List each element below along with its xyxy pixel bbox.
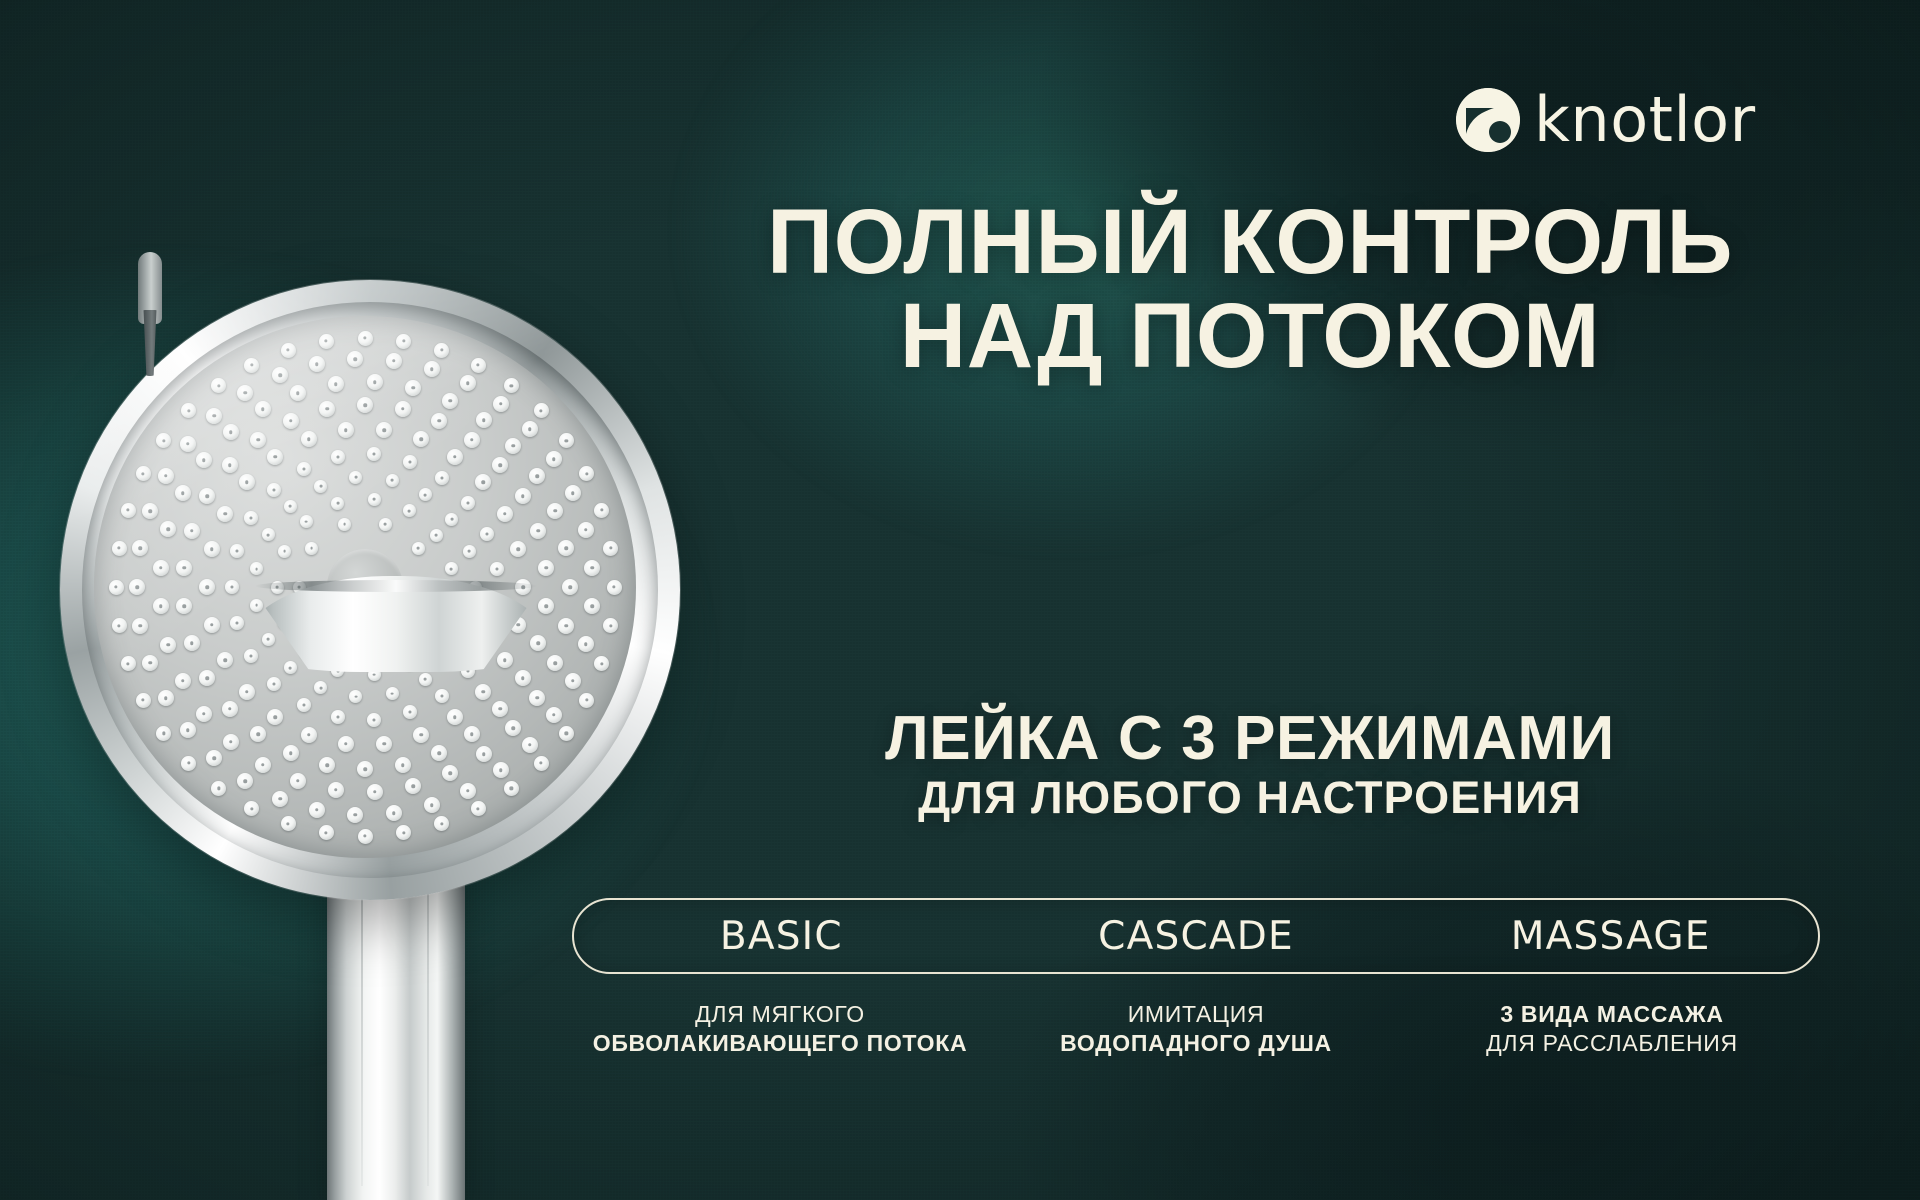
spray-nozzle xyxy=(476,746,492,762)
spray-nozzle xyxy=(250,726,266,742)
spray-nozzle xyxy=(395,401,411,417)
spray-nozzle xyxy=(222,457,238,473)
subtitle-line-2: ДЛЯ ЛЮБОГО НАСТРОЕНИЯ xyxy=(620,771,1880,824)
spray-nozzle xyxy=(132,618,148,634)
spray-nozzle xyxy=(297,462,311,476)
spray-nozzle xyxy=(386,687,399,700)
spray-nozzle xyxy=(558,618,574,634)
tab-basic[interactable]: BASIC xyxy=(574,914,989,959)
spray-nozzle xyxy=(522,737,538,753)
spray-nozzle xyxy=(594,656,609,671)
spray-nozzle xyxy=(522,421,538,437)
caption-basic-top: ДЛЯ МЯГКОГО xyxy=(582,1000,978,1029)
spray-nozzle xyxy=(530,523,546,539)
spray-nozzle xyxy=(493,396,509,412)
spray-nozzle xyxy=(530,635,546,651)
spray-nozzle xyxy=(349,471,362,484)
spray-nozzle xyxy=(314,480,327,493)
caption-basic: ДЛЯ МЯГКОГО ОБВОЛАКИВАЮЩЕГО ПОТОКА xyxy=(572,1000,988,1058)
spray-nozzle xyxy=(176,598,192,614)
spray-nozzle xyxy=(314,681,327,694)
spray-nozzle xyxy=(121,656,136,671)
spray-nozzle xyxy=(594,503,609,518)
spray-nozzle xyxy=(445,513,458,526)
spray-nozzle xyxy=(156,433,171,448)
spray-nozzle xyxy=(460,783,476,799)
spray-nozzle xyxy=(112,541,127,556)
spray-nozzle xyxy=(475,474,491,490)
caption-massage: 3 ВИДА МАССАЖА ДЛЯ РАССЛАБЛЕНИЯ xyxy=(1404,1000,1820,1058)
spray-nozzle xyxy=(607,580,622,595)
brand-name: knotlor xyxy=(1534,89,1756,151)
spray-nozzle xyxy=(347,807,363,823)
spray-nozzle xyxy=(272,791,288,807)
spray-nozzle xyxy=(584,598,600,614)
spray-nozzle xyxy=(460,375,476,391)
spray-nozzle xyxy=(153,598,169,614)
spray-nozzle xyxy=(160,521,176,537)
spray-nozzle xyxy=(579,466,594,481)
spray-nozzle xyxy=(386,353,402,369)
spray-nozzle xyxy=(328,376,344,392)
spray-nozzle xyxy=(338,518,351,531)
spray-nozzle xyxy=(319,825,334,840)
subtitle: ЛЕЙКА С 3 РЕЖИМАМИ ДЛЯ ЛЮБОГО НАСТРОЕНИЯ xyxy=(620,706,1880,824)
spray-nozzle xyxy=(497,652,513,668)
tab-massage[interactable]: MASSAGE xyxy=(1403,914,1818,959)
spray-nozzle xyxy=(464,726,480,742)
spray-nozzle xyxy=(480,527,494,541)
spray-nozzle xyxy=(184,523,200,539)
spray-nozzle xyxy=(331,710,345,724)
spray-nozzle xyxy=(237,773,253,789)
spray-nozzle xyxy=(538,560,554,576)
spray-nozzle xyxy=(405,380,421,396)
spray-nozzle xyxy=(136,693,151,708)
spray-nozzle xyxy=(250,432,266,448)
caption-cascade-bottom: ВОДОПАДНОГО ДУША xyxy=(998,1029,1394,1058)
spray-nozzle xyxy=(109,580,124,595)
spray-nozzle xyxy=(603,541,618,556)
spray-nozzle xyxy=(357,761,373,777)
spray-nozzle xyxy=(357,397,373,413)
spray-nozzle xyxy=(319,401,335,417)
spray-nozzle xyxy=(376,736,392,752)
knotlor-circle-swoosh-icon xyxy=(1456,88,1520,152)
spray-nozzle xyxy=(492,701,508,717)
spray-nozzle xyxy=(505,438,521,454)
spray-nozzle xyxy=(493,762,509,778)
spray-nozzle xyxy=(538,598,554,614)
spray-nozzle xyxy=(204,617,220,633)
spray-nozzle xyxy=(204,541,220,557)
spray-nozzle xyxy=(283,745,299,761)
spray-nozzle xyxy=(284,500,297,513)
spray-nozzle xyxy=(424,797,440,813)
spray-nozzle xyxy=(160,637,176,653)
spray-nozzle xyxy=(284,661,297,674)
spray-nozzle xyxy=(199,670,215,686)
spray-nozzle xyxy=(546,707,562,723)
spray-nozzle xyxy=(217,506,233,522)
spray-nozzle xyxy=(403,504,416,517)
spray-nozzle xyxy=(395,757,411,773)
spray-nozzle xyxy=(142,655,158,671)
spray-nozzle xyxy=(301,431,317,447)
spray-nozzle xyxy=(223,424,239,440)
spray-nozzle xyxy=(281,343,296,358)
handle-collar-highlight xyxy=(255,580,537,592)
spray-nozzle xyxy=(225,580,239,594)
spray-nozzle xyxy=(376,422,392,438)
spray-nozzle xyxy=(434,343,449,358)
spray-nozzle xyxy=(546,451,562,467)
spray-nozzle xyxy=(262,633,275,646)
spray-nozzle xyxy=(565,485,581,501)
spray-nozzle xyxy=(367,784,383,800)
spray-nozzle xyxy=(475,684,491,700)
spray-nozzle xyxy=(534,403,549,418)
spray-nozzle xyxy=(181,756,196,771)
spray-nozzle xyxy=(442,393,458,409)
spray-nozzle xyxy=(309,802,325,818)
spray-nozzle xyxy=(156,726,171,741)
tab-cascade[interactable]: CASCADE xyxy=(989,914,1404,959)
spray-nozzle xyxy=(578,636,594,652)
spray-nozzle xyxy=(559,726,574,741)
spray-nozzle xyxy=(419,488,432,501)
spray-nozzle xyxy=(534,756,549,771)
spray-nozzle xyxy=(424,361,440,377)
spray-nozzle xyxy=(267,449,283,465)
spray-nozzle xyxy=(196,706,212,722)
spray-nozzle xyxy=(237,385,253,401)
spray-nozzle xyxy=(136,466,151,481)
spray-nozzle xyxy=(431,745,447,761)
spray-nozzle xyxy=(206,750,222,766)
spray-nozzle xyxy=(413,727,429,743)
spray-nozzle xyxy=(412,542,425,555)
spray-nozzle xyxy=(255,757,271,773)
spray-nozzle xyxy=(239,474,255,490)
spray-nozzle xyxy=(396,825,411,840)
spray-nozzle xyxy=(405,778,421,794)
spray-nozzle xyxy=(476,412,492,428)
spray-nozzle xyxy=(386,474,399,487)
spray-nozzle xyxy=(211,781,226,796)
spray-nozzle xyxy=(529,468,545,484)
spray-nozzle xyxy=(319,757,335,773)
spray-nozzle xyxy=(158,690,174,706)
spray-nozzle xyxy=(328,782,344,798)
spray-nozzle xyxy=(175,485,191,501)
spray-nozzle xyxy=(368,493,381,506)
caption-massage-bottom: ДЛЯ РАССЛАБЛЕНИЯ xyxy=(1414,1029,1810,1058)
spray-nozzle xyxy=(244,511,258,525)
spray-nozzle xyxy=(559,433,574,448)
spray-nozzle xyxy=(297,698,311,712)
spray-nozzle xyxy=(497,506,513,522)
spray-nozzle xyxy=(403,705,417,719)
spray-nozzle xyxy=(244,801,259,816)
spray-nozzle xyxy=(464,432,480,448)
spray-nozzle xyxy=(445,562,458,575)
brand-logo[interactable]: knotlor xyxy=(1456,88,1756,152)
spray-nozzle xyxy=(579,693,594,708)
spray-nozzle xyxy=(505,720,521,736)
spray-nozzle xyxy=(367,374,383,390)
spray-nozzle xyxy=(565,673,581,689)
spray-nozzle xyxy=(338,736,354,752)
spray-nozzle xyxy=(283,413,299,429)
spray-nozzle xyxy=(217,652,233,668)
spray-nozzle xyxy=(175,673,191,689)
spray-nozzle xyxy=(301,727,317,743)
spray-nozzle xyxy=(603,618,618,633)
spray-nozzle xyxy=(196,452,212,468)
spray-nozzle xyxy=(529,690,545,706)
spray-nozzle xyxy=(490,562,504,576)
spray-nozzle xyxy=(331,497,344,510)
spray-nozzle xyxy=(358,829,373,844)
spray-nozzle xyxy=(510,541,526,557)
spray-nozzle xyxy=(504,781,519,796)
caption-massage-top: 3 ВИДА МАССАЖА xyxy=(1414,1000,1810,1029)
spray-nozzle xyxy=(584,560,600,576)
spray-nozzle xyxy=(267,677,281,691)
spray-nozzle xyxy=(230,544,244,558)
spray-nozzle xyxy=(158,468,174,484)
spray-nozzle xyxy=(255,401,271,417)
spray-nozzle xyxy=(222,701,238,717)
spray-nozzle xyxy=(442,765,458,781)
spray-nozzle xyxy=(558,540,574,556)
spray-nozzle xyxy=(244,358,259,373)
spray-nozzle xyxy=(250,562,263,575)
spray-nozzle xyxy=(267,709,283,725)
spray-nozzle xyxy=(338,422,354,438)
spray-nozzle xyxy=(578,522,594,538)
promo-banner: knotlor ПОЛНЫЙ КОНТРОЛЬ НАД ПОТОКОМ ЛЕЙК… xyxy=(0,0,1920,1200)
spray-nozzle xyxy=(281,816,296,831)
spray-nozzle xyxy=(463,545,476,558)
spray-nozzle xyxy=(176,560,192,576)
spray-nozzle xyxy=(112,618,127,633)
spray-nozzle xyxy=(129,579,145,595)
spray-nozzle xyxy=(447,449,463,465)
spray-nozzle xyxy=(430,529,443,542)
caption-cascade-top: ИМИТАЦИЯ xyxy=(998,1000,1394,1029)
spray-nozzle xyxy=(290,385,306,401)
spray-nozzle xyxy=(347,351,363,367)
spray-nozzle xyxy=(403,455,417,469)
spray-nozzle xyxy=(396,334,411,349)
spray-nozzle xyxy=(153,560,169,576)
spray-nozzle xyxy=(272,367,288,383)
spray-nozzle xyxy=(250,599,263,612)
spray-nozzle xyxy=(471,801,486,816)
spray-nozzle xyxy=(349,690,362,703)
spray-nozzle xyxy=(319,334,334,349)
spray-nozzle xyxy=(358,331,373,346)
spray-nozzle xyxy=(244,649,258,663)
spray-nozzle xyxy=(431,413,447,429)
spray-nozzle xyxy=(547,655,563,671)
spray-nozzle xyxy=(367,447,381,461)
spray-nozzle xyxy=(447,709,463,725)
spray-nozzle xyxy=(367,713,381,727)
spray-nozzle xyxy=(199,488,215,504)
subtitle-line-1: ЛЕЙКА С 3 РЕЖИМАМИ xyxy=(620,706,1880,771)
spray-nozzle xyxy=(211,378,226,393)
spray-nozzle xyxy=(515,670,531,686)
headline-line-2: НАД ПОТОКОМ xyxy=(620,288,1880,386)
spray-nozzle xyxy=(386,805,402,821)
spray-nozzle xyxy=(121,503,136,518)
spray-nozzle xyxy=(547,503,563,519)
spray-nozzle xyxy=(132,540,148,556)
spray-nozzle xyxy=(461,496,475,510)
spray-nozzle xyxy=(230,616,244,630)
spray-nozzle xyxy=(492,457,508,473)
mode-selector-pill: BASIC CASCADE MASSAGE xyxy=(572,898,1820,974)
spray-nozzle xyxy=(290,773,306,789)
headline-line-1: ПОЛНЫЙ КОНТРОЛЬ xyxy=(620,196,1880,288)
spray-nozzle xyxy=(504,378,519,393)
spray-nozzle xyxy=(562,579,578,595)
spray-nozzle xyxy=(515,488,531,504)
spray-nozzle xyxy=(309,356,325,372)
spray-nozzle xyxy=(180,436,196,452)
spray-nozzle xyxy=(434,816,449,831)
spray-nozzle xyxy=(206,408,222,424)
caption-cascade: ИМИТАЦИЯ ВОДОПАДНОГО ДУША xyxy=(988,1000,1404,1058)
spray-nozzle xyxy=(262,528,275,541)
spray-nozzle xyxy=(239,684,255,700)
spray-nozzle xyxy=(300,515,313,528)
spray-nozzle xyxy=(199,579,215,595)
spray-nozzle xyxy=(180,722,196,738)
spray-nozzle xyxy=(379,518,392,531)
spray-nozzle xyxy=(419,673,432,686)
spray-nozzle xyxy=(223,734,239,750)
spray-nozzle xyxy=(267,483,281,497)
spray-nozzle xyxy=(184,635,200,651)
mode-selector-lever[interactable] xyxy=(136,252,164,376)
spray-nozzle xyxy=(305,542,318,555)
spray-nozzle xyxy=(142,503,158,519)
spray-nozzle xyxy=(278,545,291,558)
spray-nozzle xyxy=(413,431,429,447)
spray-nozzle xyxy=(471,358,486,373)
mode-captions: ДЛЯ МЯГКОГО ОБВОЛАКИВАЮЩЕГО ПОТОКА ИМИТА… xyxy=(572,1000,1820,1110)
caption-basic-bottom: ОБВОЛАКИВАЮЩЕГО ПОТОКА xyxy=(582,1029,978,1058)
spray-nozzle xyxy=(435,471,449,485)
spray-nozzle xyxy=(435,689,449,703)
page-title: ПОЛНЫЙ КОНТРОЛЬ НАД ПОТОКОМ xyxy=(620,196,1880,386)
spray-nozzle xyxy=(181,403,196,418)
spray-nozzle xyxy=(331,450,345,464)
